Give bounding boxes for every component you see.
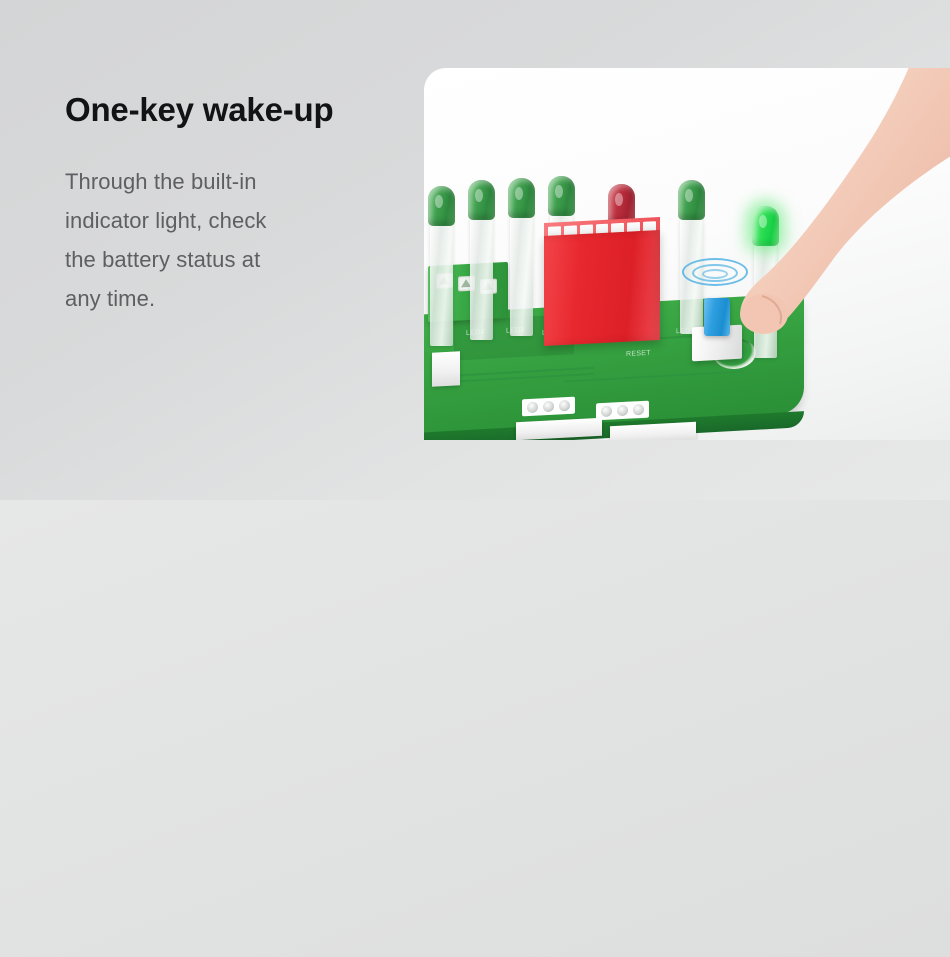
copy-block-one: One-key wake-up Through the built-in ind… <box>65 88 405 318</box>
solder-pad <box>559 400 570 412</box>
solder-pad <box>527 402 538 414</box>
led-lamp-green <box>548 176 575 216</box>
solder-pad-row <box>596 401 649 421</box>
led-lamp-green <box>428 186 455 226</box>
silkscreen-reset: RESET <box>626 350 651 358</box>
led-tube <box>680 216 703 334</box>
led-tube <box>754 240 777 358</box>
led-tube <box>470 214 493 340</box>
solder-pad <box>617 405 628 417</box>
section-one-key-wake-up: One-key wake-up Through the built-in ind… <box>0 0 950 500</box>
solder-pad-row <box>522 397 575 417</box>
led-tube <box>510 212 533 336</box>
solder-pad <box>543 401 554 413</box>
feature-page: One-key wake-up Through the built-in ind… <box>0 0 950 957</box>
led-lamp-green <box>468 180 495 220</box>
led-lamp-green <box>678 180 705 220</box>
body-text-one: Through the built-in indicator light, ch… <box>65 162 405 318</box>
wake-up-button[interactable] <box>704 298 730 336</box>
dip-switch-body <box>544 230 660 346</box>
section-four-way-temperature: 4-way battery temperature control detect… <box>0 500 950 957</box>
solder-pad <box>601 406 612 418</box>
led-lamp-lit <box>752 206 779 246</box>
led-tube <box>430 218 453 346</box>
tap-ripple-icon <box>702 269 728 279</box>
white-connector <box>432 351 460 386</box>
page-title-one: One-key wake-up <box>65 88 405 132</box>
bms-pcb-indicator-leds-photo: LED4 LED3 LED2 LED5 RESET <box>424 68 950 440</box>
solder-pad <box>633 404 644 416</box>
led-lamp-green <box>508 178 535 218</box>
